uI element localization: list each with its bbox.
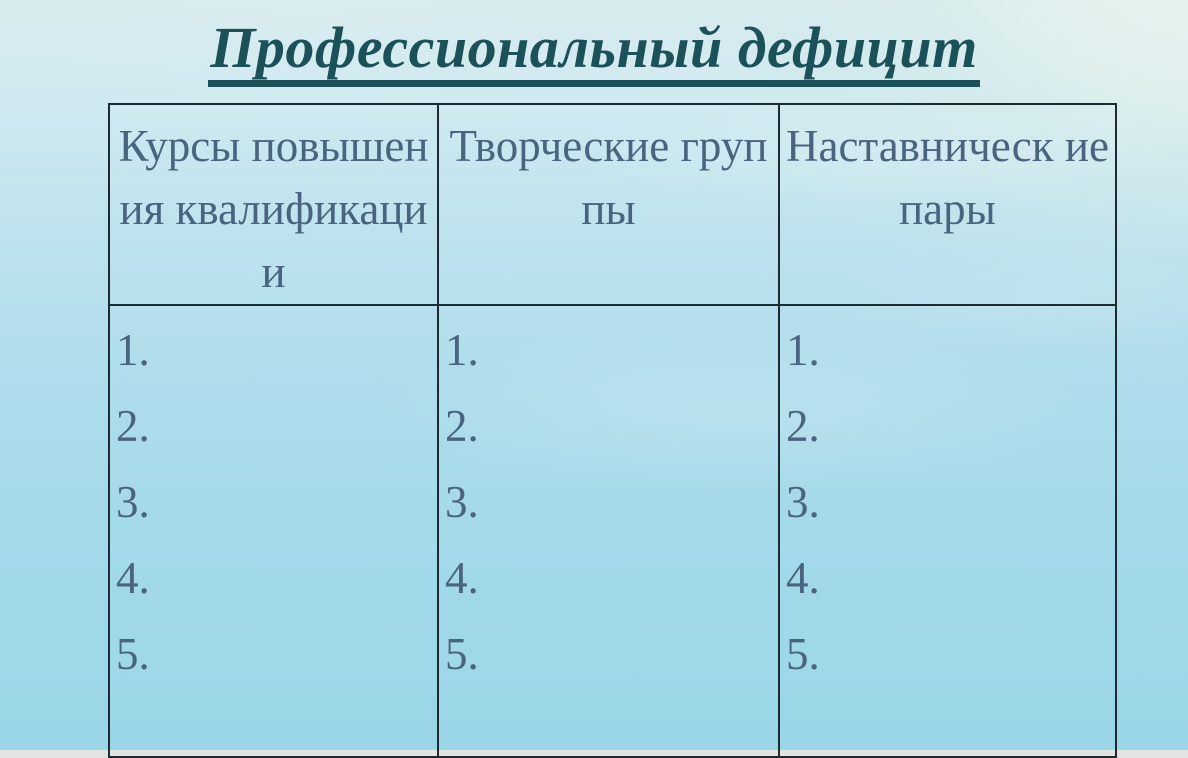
slide-title-text: Профессиональный дефицит xyxy=(208,14,980,87)
table-body: 1. 2. 3. 4. 5. 1. 2. 3. 4. 5. xyxy=(109,305,1116,757)
cell-mentoring-pairs[interactable]: 1. 2. 3. 4. 5. xyxy=(779,305,1116,757)
table-row: 1. 2. 3. 4. 5. 1. 2. 3. 4. 5. xyxy=(109,305,1116,757)
presentation-slide: Профессиональный дефицит Курсы повышения… xyxy=(0,0,1188,758)
list-item[interactable]: 1. xyxy=(786,312,1115,388)
list-item[interactable]: 3. xyxy=(786,464,1115,540)
list-item[interactable]: 5. xyxy=(445,616,778,692)
numbered-list-mentoring-pairs: 1. 2. 3. 4. 5. xyxy=(780,306,1115,692)
list-item[interactable]: 1. xyxy=(116,312,437,388)
list-item[interactable]: 3. xyxy=(116,464,437,540)
list-item[interactable]: 4. xyxy=(786,540,1115,616)
numbered-list-courses: 1. 2. 3. 4. 5. xyxy=(110,306,437,692)
list-item[interactable]: 3. xyxy=(445,464,778,540)
column-header-mentoring-pairs-label: Наставническ ие пары xyxy=(780,105,1115,241)
cell-creative-groups[interactable]: 1. 2. 3. 4. 5. xyxy=(438,305,779,757)
list-item[interactable]: 2. xyxy=(445,388,778,464)
table-header-row-group: Курсы повышения квалификации Творческие … xyxy=(109,104,1116,305)
column-header-creative-groups-label: Творческие группы xyxy=(439,105,778,241)
professional-deficit-table: Курсы повышения квалификации Творческие … xyxy=(108,103,1117,758)
list-item[interactable]: 5. xyxy=(786,616,1115,692)
column-header-courses: Курсы повышения квалификации xyxy=(109,104,438,305)
list-item[interactable]: 2. xyxy=(116,388,437,464)
numbered-list-creative-groups: 1. 2. 3. 4. 5. xyxy=(439,306,778,692)
slide-title: Профессиональный дефицит xyxy=(0,14,1188,87)
list-item[interactable]: 4. xyxy=(445,540,778,616)
column-header-courses-label: Курсы повышения квалификации xyxy=(110,105,437,304)
list-item[interactable]: 2. xyxy=(786,388,1115,464)
list-item[interactable]: 5. xyxy=(116,616,437,692)
column-header-mentoring-pairs: Наставническ ие пары xyxy=(779,104,1116,305)
cell-courses[interactable]: 1. 2. 3. 4. 5. xyxy=(109,305,438,757)
column-header-creative-groups: Творческие группы xyxy=(438,104,779,305)
list-item[interactable]: 4. xyxy=(116,540,437,616)
table-header-row: Курсы повышения квалификации Творческие … xyxy=(109,104,1116,305)
list-item[interactable]: 1. xyxy=(445,312,778,388)
